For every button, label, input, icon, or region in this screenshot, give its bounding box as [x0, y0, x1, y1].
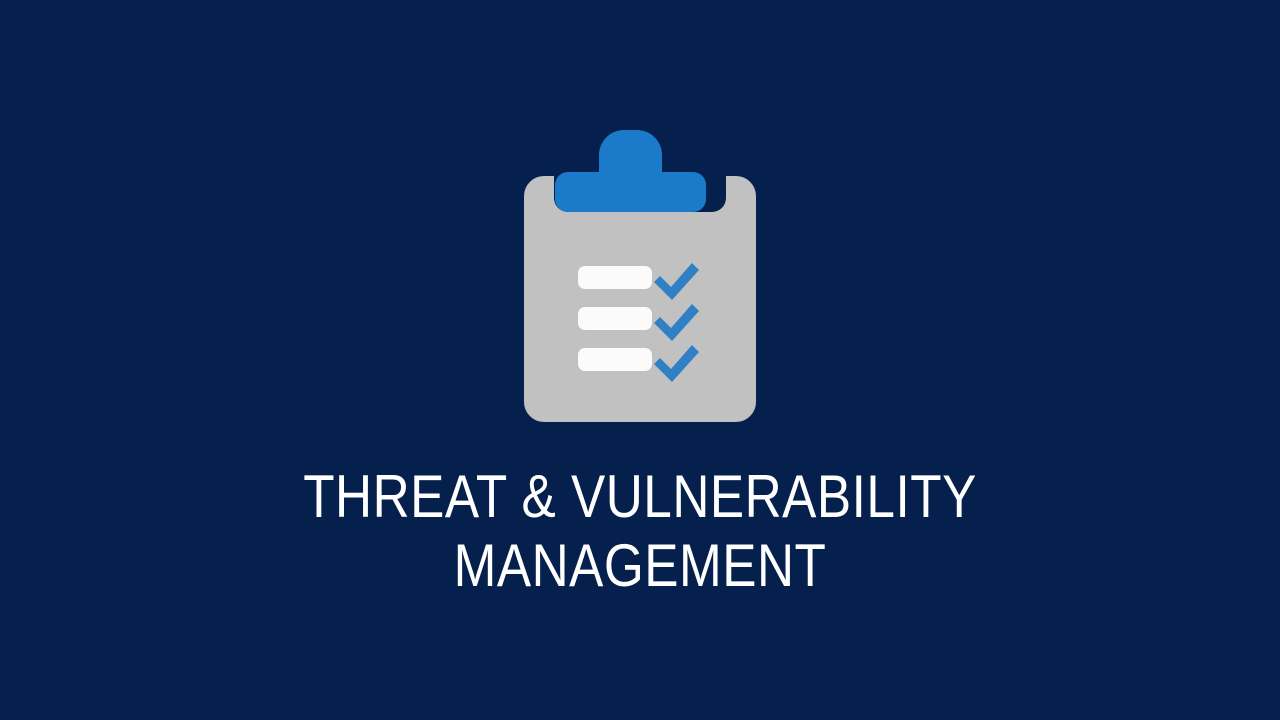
clipboard-checklist-icon	[0, 0, 1280, 720]
checklist-row	[578, 345, 699, 382]
page-title-line-1: THREAT & VULNERABILITY	[93, 462, 1187, 531]
clipboard-board	[524, 176, 756, 422]
page-title-line-2: MANAGEMENT	[93, 531, 1187, 600]
slide-canvas: THREAT & VULNERABILITY MANAGEMENT	[0, 0, 1280, 720]
page-title: THREAT & VULNERABILITY MANAGEMENT	[0, 462, 1280, 600]
checklist-row	[578, 263, 699, 300]
checklist-row	[578, 304, 699, 341]
clipboard-icon-svg	[0, 0, 1280, 720]
clipboard-clip	[555, 130, 706, 212]
